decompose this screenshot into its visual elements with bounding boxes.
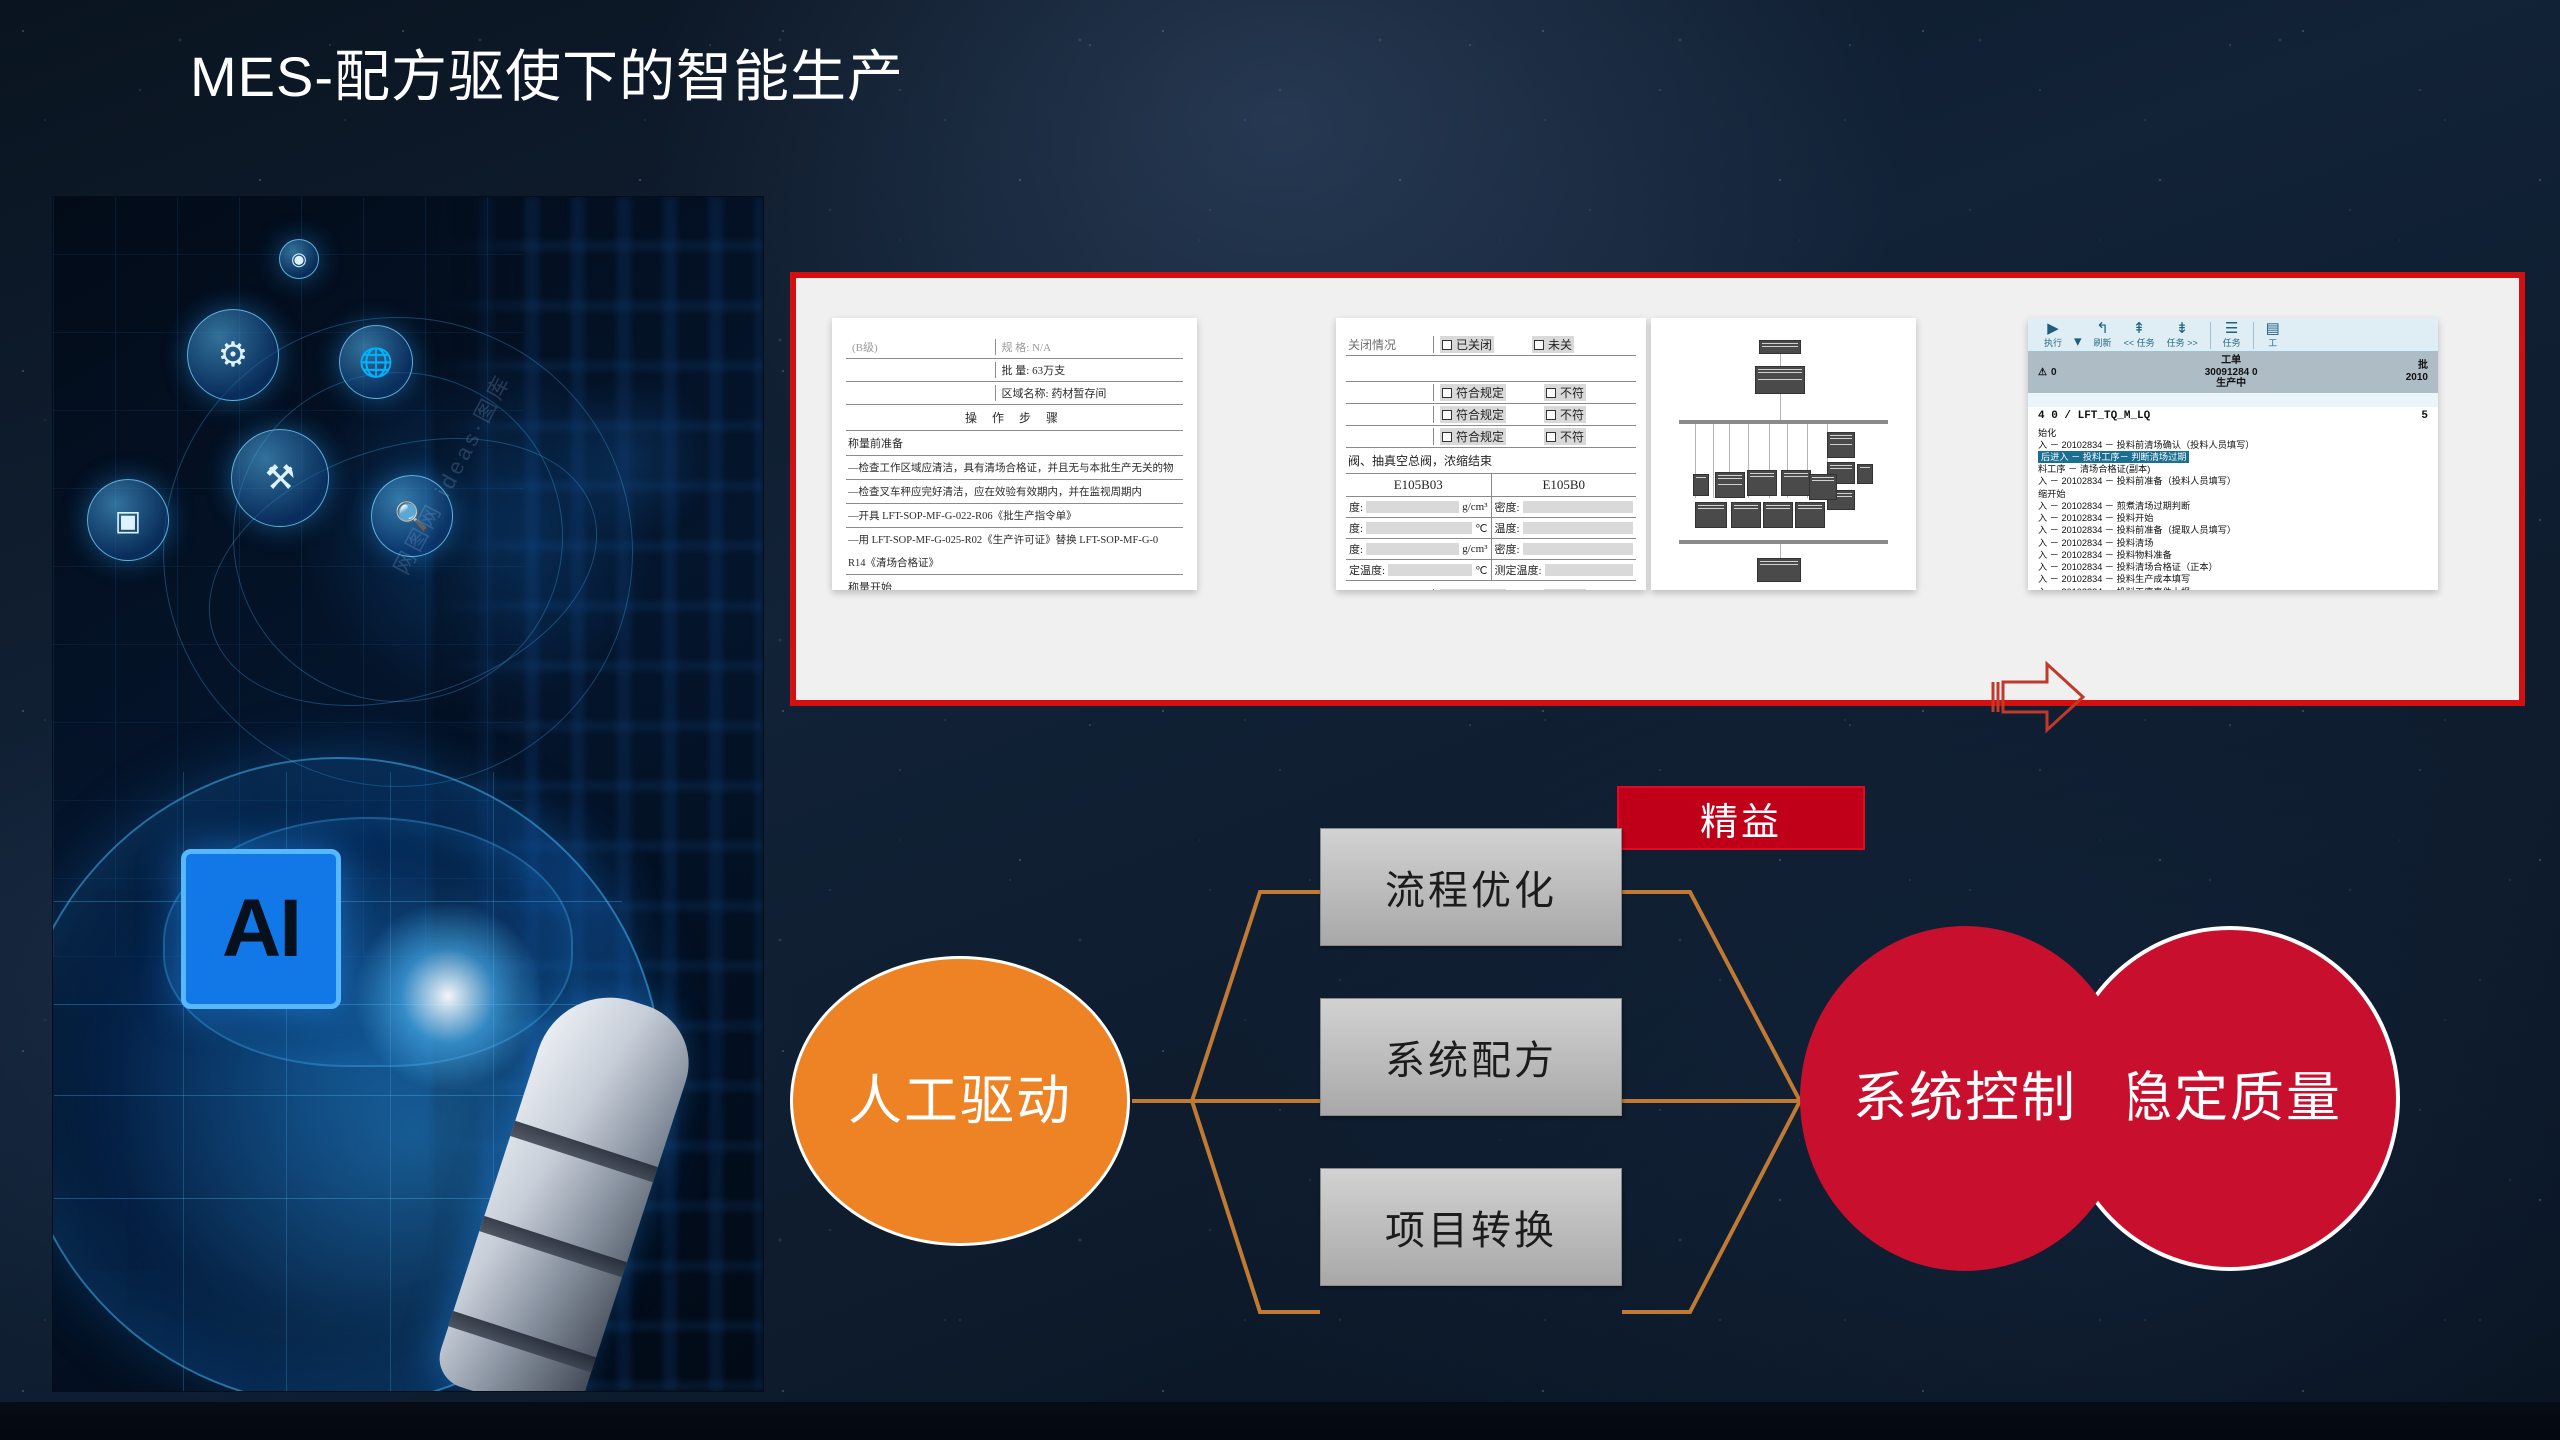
circle-manual-drive[interactable]: 人工驱动 <box>790 956 1130 1246</box>
log-item: 入 － 20102834 － 投料生产成本填写 <box>2038 573 2428 585</box>
doc1-line-1: —检查叉车秤应完好清洁，应在效验有效期内，并在监视周期内 <box>846 480 1183 504</box>
order-label: 工单 <box>2221 355 2241 366</box>
doc2-m0-unit: g/cm³ <box>1462 501 1487 513</box>
warning-icon: ⚠ <box>2038 367 2047 378</box>
list-icon: ☰ <box>2223 322 2241 336</box>
doc2-check-2-b[interactable]: 不符 <box>1544 428 1586 445</box>
doc2-check-0-b[interactable]: 不符 <box>1544 384 1586 401</box>
lean-tag: 精益 <box>1617 786 1865 850</box>
order-center: 工单 30091284 0 生产中 <box>2057 355 2406 390</box>
doc1-row2-value: 区域名称: 药材暂存间 <box>995 385 1181 401</box>
gear-machine-icon: ⚙ <box>187 309 279 401</box>
page-title: MES-配方驱使下的智能生产 <box>190 32 904 113</box>
log-item: 入 － 20102834 － 投料工序事件上报 <box>2038 586 2428 590</box>
toolbar-divider-2 <box>2253 322 2254 349</box>
mes-code-text: 4 0 / LFT_TQ_M_LQ <box>2038 410 2150 422</box>
box-project-conversion[interactable]: 项目转换 <box>1320 1168 1622 1286</box>
doc2-m1-right: 温度: <box>1495 520 1520 536</box>
box-system-recipe[interactable]: 系统配方 <box>1320 998 1622 1116</box>
doc2-note: 阀、抽真空总阀，浓缩结束 <box>1346 448 1636 474</box>
toolbar-divider <box>2210 322 2211 349</box>
chip-square-icon: ▣ <box>87 479 169 561</box>
document-card-weighing-sop[interactable]: (B级)规 格: N/A 批 量: 63万支 区域名称: 药材暂存间 操 作 步… <box>832 318 1197 590</box>
doc1-line-0: —检查工作区域应清洁，具有清场合格证，并且无与本批生产无关的物 <box>846 456 1183 480</box>
document-card-mes-screen[interactable]: ▶执行 ▾ ↰刷新 ⇞<< 任务 ⇟任务 >> ☰任务 ▤工 ⚠ 0 工单 30… <box>2028 318 2438 590</box>
doc2-id-1: E105B0 <box>1492 474 1637 496</box>
log-item: 始化 <box>2038 427 2428 439</box>
log-item: 入 － 20102834 － 煎煮清场过期判断 <box>2038 500 2428 512</box>
doc2-m2-left: 度: <box>1349 541 1363 557</box>
prev-task-icon: ⇞ <box>2124 322 2155 336</box>
globe-icon: 🌐 <box>339 325 413 399</box>
order-status: 生产中 <box>2216 378 2246 389</box>
circle-manual-label: 人工驱动 <box>848 1071 1072 1131</box>
log-item: 入 － 20102834 － 投料清场 <box>2038 537 2428 549</box>
doc2-check-2-a[interactable]: 符合规定 <box>1440 428 1506 445</box>
box-process-optimization[interactable]: 流程优化 <box>1320 828 1622 946</box>
log-item: 料工序 － 清场合格证(副本) <box>2038 463 2428 475</box>
log-item: 入 － 20102834 － 投料前准备（提取人员填写） <box>2038 524 2428 536</box>
doc2-footer-opt-a[interactable]: 符合规定 <box>1440 589 1506 590</box>
circle-quality-label: 稳定质量 <box>2118 1068 2342 1128</box>
dropdown-dot-icon: ▾ <box>2074 335 2082 349</box>
doc2-opt-closed[interactable]: 已关闭 <box>1440 336 1494 353</box>
ai-chip: AI <box>181 849 341 1009</box>
doc2-footer-opt-b[interactable]: 不符 <box>1544 589 1586 590</box>
doc2-check-0-a[interactable]: 符合规定 <box>1440 384 1506 401</box>
mes-subbar <box>2028 393 2438 407</box>
doc1-row0-value: 规 格: N/A <box>995 339 1181 355</box>
toolbar-item-dropdown[interactable]: ▾ <box>2074 335 2082 349</box>
doc2-footer-label: ), 联系 <box>1346 589 1433 590</box>
doc2-m0-right: 密度: <box>1495 499 1520 515</box>
log-item: 入 － 20102834 － 投料前准备（投料人员填写） <box>2038 475 2428 487</box>
sensor-icon: ◉ <box>279 239 319 279</box>
toolbar-item-work[interactable]: ▤工 <box>2266 322 2280 349</box>
doc1-line-2: —开具 LFT-SOP-MF-G-022-R06《批生产指令单》 <box>846 504 1183 528</box>
doc2-m3-unit: ℃ <box>1475 564 1487 577</box>
doc2-m2-right: 密度: <box>1495 541 1520 557</box>
doc-flow-arrow-1 <box>1989 654 2089 740</box>
circle-system-control[interactable]: 系统控制 <box>1800 926 2130 1271</box>
box-project-label: 项目转换 <box>1385 1198 1557 1256</box>
mes-code-right: 5 <box>2421 410 2428 422</box>
box-recipe-label: 系统配方 <box>1385 1028 1557 1086</box>
log-item-selected[interactable]: 后进入 － 投料工序－ 判断清场过期 <box>2038 451 2428 463</box>
log-item: 入 － 20102834 － 投料物料准备 <box>2038 549 2428 561</box>
mes-log-list[interactable]: 始化 入 － 20102834 － 投料前清场确认（投料人员填写） 后进入 － … <box>2028 425 2438 591</box>
log-item: 入 － 20102834 － 投料清场合格证（正本） <box>2038 561 2428 573</box>
slide-canvas: MES-配方驱使下的智能生产 AI ◉ ⚙ 🌐 ⚒ 🔍 ▣ 网图网 ideas·… <box>0 0 2560 1440</box>
ai-robot-image: AI ◉ ⚙ 🌐 ⚒ 🔍 ▣ 网图网 ideas·图库 <box>52 196 764 1392</box>
toolbar-item-prev-task[interactable]: ⇞<< 任务 <box>2124 322 2155 349</box>
document-card-flow-diagram[interactable] <box>1651 318 1916 590</box>
batch-value: 2010 <box>2406 372 2428 383</box>
doc1-line-3: —用 LFT-SOP-MF-G-025-R02《生产许可证》替换 LFT-SOP… <box>846 528 1183 551</box>
doc1-line-4: R14《清场合格证》 <box>846 551 1183 575</box>
doc2-id-0: E105B03 <box>1346 474 1492 496</box>
lean-tag-label: 精益 <box>1700 791 1782 846</box>
doc1-row1-value: 批 量: 63万支 <box>995 362 1181 378</box>
toolbar-item-refresh[interactable]: ↰刷新 <box>2094 322 2112 349</box>
doc2-check-1-a[interactable]: 符合规定 <box>1440 406 1506 423</box>
doc1-row0-label: (B级) <box>848 339 995 355</box>
order-number: 30091284 0 <box>2205 367 2258 378</box>
ai-chip-label: AI <box>222 882 300 976</box>
batch-block: 批 2010 <box>2406 360 2428 384</box>
toolbar-item-next-task[interactable]: ⇟任务 >> <box>2167 322 2198 349</box>
doc3-flowchart <box>1651 318 1916 590</box>
mes-code-line: 4 0 / LFT_TQ_M_LQ 5 <box>2028 407 2438 425</box>
doc2-m2-unit: g/cm³ <box>1462 543 1487 555</box>
toolbar-item-task-list[interactable]: ☰任务 <box>2223 322 2241 349</box>
log-item: 缩开始 <box>2038 488 2428 500</box>
doc2-m0-left: 度: <box>1349 499 1363 515</box>
box-process-label: 流程优化 <box>1385 858 1557 916</box>
log-item: 入 － 20102834 － 投料前清场确认（投料人员填写） <box>2038 439 2428 451</box>
toolbar-item-execute[interactable]: ▶执行 <box>2044 322 2062 349</box>
doc2-opt-not-closed[interactable]: 未关 <box>1532 336 1574 353</box>
document-card-valve-record[interactable]: 关闭情况 已关闭 未关 符合规定 不符 <box>1336 318 1646 590</box>
bottom-band <box>0 1402 2560 1440</box>
doc2-m3-left: 定温度: <box>1349 562 1385 578</box>
doc2-m1-unit: ℃ <box>1475 522 1487 535</box>
doc2-m1-left: 度: <box>1349 520 1363 536</box>
robot-arm-icon: ⚒ <box>231 429 329 527</box>
work-icon: ▤ <box>2266 322 2280 336</box>
next-task-icon: ⇟ <box>2167 322 2198 336</box>
doc2-m3-right: 测定温度: <box>1495 562 1542 578</box>
log-item: 入 － 20102834 － 投料开始 <box>2038 512 2428 524</box>
doc2-check-1-b[interactable]: 不符 <box>1544 406 1586 423</box>
refresh-icon: ↰ <box>2094 322 2112 336</box>
mes-order-header: ⚠ 0 工单 30091284 0 生产中 批 2010 <box>2028 352 2438 393</box>
batch-label: 批 <box>2418 360 2428 371</box>
circle-control-label: 系统控制 <box>1853 1068 2077 1128</box>
document-strip-frame: (B级)规 格: N/A 批 量: 63万支 区域名称: 药材暂存间 操 作 步… <box>790 272 2525 706</box>
doc1-heading-1: 称量前准备 <box>846 431 1183 456</box>
doc2-first-row-label: 关闭情况 <box>1346 336 1433 353</box>
mes-toolbar: ▶执行 ▾ ↰刷新 ⇞<< 任务 ⇟任务 >> ☰任务 ▤工 <box>2028 318 2438 352</box>
touch-glow <box>353 901 543 1091</box>
flow-diagram: 人工驱动 流程优化 系统配方 项目转换 稳定质量 系统控制 <box>760 860 2560 1400</box>
doc1-heading-2: 称量开始 <box>846 575 1183 590</box>
doc1-section-title: 操 作 步 骤 <box>846 405 1183 431</box>
play-icon: ▶ <box>2044 322 2062 336</box>
